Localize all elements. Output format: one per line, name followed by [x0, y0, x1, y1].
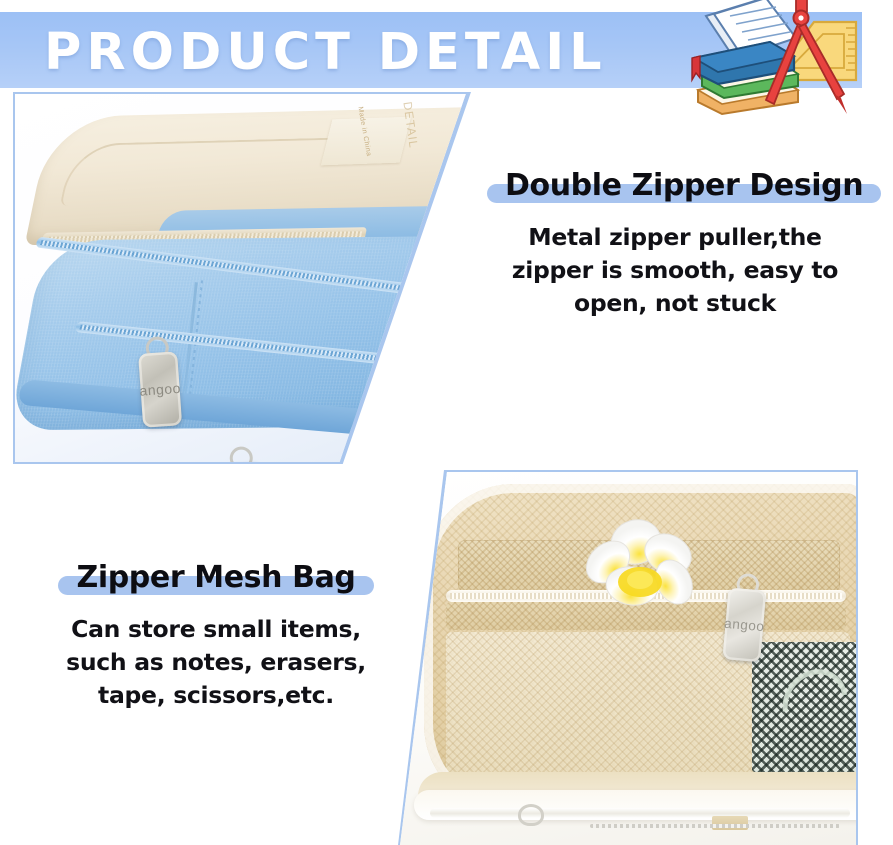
body-zipper-mesh-bag: Can store small items, such as notes, er…: [28, 613, 404, 713]
heading-double-zipper: Double Zipper Design: [487, 168, 881, 205]
body-double-zipper: Metal zipper puller,the zipper is smooth…: [487, 221, 863, 321]
body-line: zipper is smooth, easy to: [487, 254, 863, 287]
frangipani-flower-icon: [570, 516, 718, 612]
pencil-case-mesh-pocket-photo: angoo: [400, 472, 856, 845]
page-title: PRODUCT DETAIL: [44, 27, 607, 78]
body-line: open, not stuck: [487, 287, 863, 320]
section-double-zipper-text: Double Zipper Design Metal zipper puller…: [487, 168, 863, 321]
stationery-icon-cluster: [648, 0, 893, 144]
body-line: Metal zipper puller,the: [487, 221, 863, 254]
section-zipper-mesh-text: Zipper Mesh Bag Can store small items, s…: [28, 560, 404, 713]
product-detail-page: PRODUCT DETAIL: [0, 0, 893, 845]
brand-tag-label: angoo: [724, 615, 765, 634]
photo-frame-zipper-mesh: angoo: [398, 470, 858, 845]
brand-tag-label: angoo: [139, 380, 181, 399]
heading-zipper-mesh-bag: Zipper Mesh Bag: [58, 560, 373, 597]
pencil-case-double-zipper-photo: Made in China DETAIL: [15, 94, 469, 462]
photo-frame-double-zipper: Made in China DETAIL: [13, 92, 471, 464]
body-line: Can store small items,: [28, 613, 404, 646]
body-line: tape, scissors,etc.: [28, 679, 404, 712]
body-line: such as notes, erasers,: [28, 646, 404, 679]
